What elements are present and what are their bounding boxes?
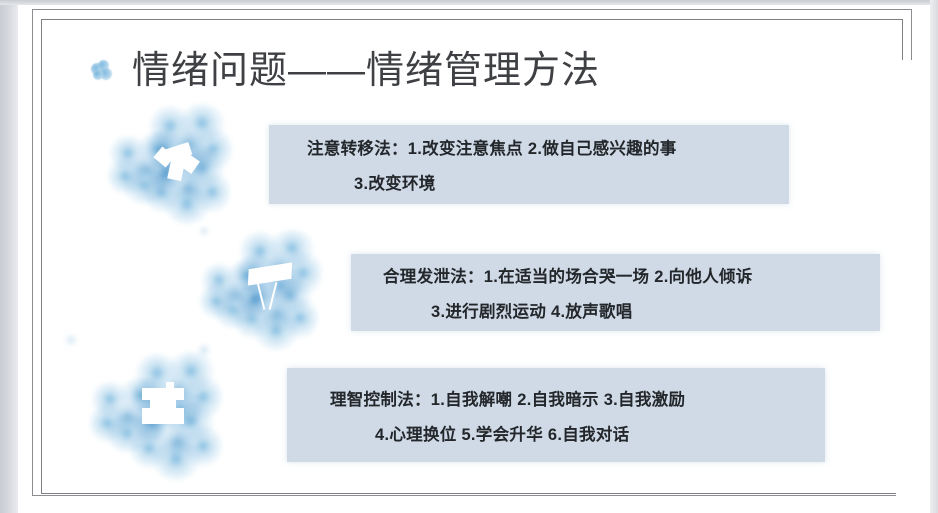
flower-speck-icon — [64, 334, 78, 346]
flower-speck-icon — [196, 344, 212, 356]
page-edge-shadow-right — [930, 0, 938, 513]
flower-bullet-icon — [88, 58, 114, 84]
page-edge-shadow-left — [0, 0, 18, 513]
content-box-attention-transfer: 注意转移法：1.改变注意焦点 2.做自己感兴趣的事 3.改变环境 — [269, 125, 789, 204]
content-line: 3.进行剧烈运动 4.放声歌唱 — [351, 298, 880, 322]
content-line: 3.改变环境 — [269, 170, 789, 194]
flower-speck-icon — [198, 226, 210, 236]
page-title: 情绪问题——情绪管理方法 — [132, 52, 600, 90]
page-edge-shadow-top — [0, 0, 938, 5]
content-box-rational-control: 理智控制法：1.自我解嘲 2.自我暗示 3.自我激励 4.心理换位 5.学会升华… — [287, 368, 825, 462]
slide-canvas: 情绪问题——情绪管理方法 注意转移法：1.改变注意焦点 2.做自己感兴趣的事 3… — [0, 0, 938, 513]
content-box-reasonable-venting: 合理发泄法：1.在适当的场合哭一场 2.向他人倾诉 3.进行剧烈运动 4.放声歌… — [351, 254, 880, 331]
content-line: 合理发泄法：1.在适当的场合哭一场 2.向他人倾诉 — [351, 263, 880, 287]
content-line: 注意转移法：1.改变注意焦点 2.做自己感兴趣的事 — [269, 135, 789, 159]
content-line: 理智控制法：1.自我解嘲 2.自我暗示 3.自我激励 — [287, 386, 825, 410]
content-line: 4.心理换位 5.学会升华 6.自我对话 — [287, 421, 825, 445]
slide-title-row: 情绪问题——情绪管理方法 — [88, 52, 600, 90]
